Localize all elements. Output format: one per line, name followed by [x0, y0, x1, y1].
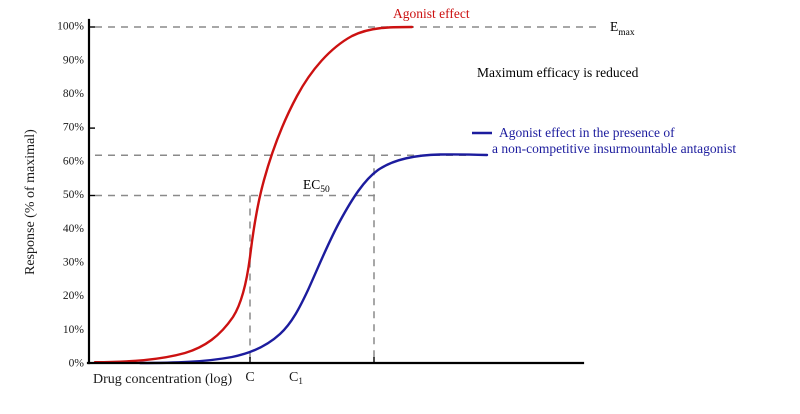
ec50-annotation: EC50 [303, 177, 330, 195]
y-tick-label: 30% [63, 257, 85, 269]
y-axis-title: Response (% of maximal) [23, 129, 38, 275]
max-efficacy-annotation: Maximum efficacy is reduced [477, 65, 639, 80]
antagonist-series-label-line2: a non-competitive insurmountable antagon… [492, 141, 736, 156]
y-tick-label: 0% [69, 358, 85, 370]
y-tick-label: 90% [63, 54, 85, 66]
dose-response-chart: Response (% of maximal) 100% 90% 80% 70%… [0, 0, 800, 414]
y-tick-label: 70% [63, 122, 85, 134]
agonist-series-label: Agonist effect [393, 6, 470, 21]
antagonist-series-label-line1: Agonist effect in the presence of [499, 125, 675, 140]
x-axis-title: Drug concentration (log) [93, 372, 233, 387]
emax-annotation: Emax [610, 19, 635, 38]
x-tick-label-c1-base: C [289, 370, 298, 385]
y-tick-label: 10% [63, 324, 85, 336]
x-tick-label-c1: C1 [289, 370, 303, 387]
y-tick-label: 50% [63, 189, 85, 201]
emax-annotation-subscript: max [618, 28, 635, 38]
chart-page: Response (% of maximal) 100% 90% 80% 70%… [0, 0, 800, 414]
x-tick-label-c: C [245, 370, 254, 385]
ec50-annotation-base: EC [303, 177, 320, 192]
y-tick-label: 60% [63, 155, 85, 167]
x-tick-label-c1-subscript: 1 [298, 377, 303, 387]
ec50-annotation-subscript: 50 [320, 185, 330, 195]
x-axis-ticks: C C1 [245, 357, 374, 387]
y-tick-label: 20% [63, 290, 85, 302]
emax-annotation-base: E [610, 19, 618, 34]
y-tick-label: 100% [57, 21, 84, 33]
agonist-curve [95, 27, 412, 362]
y-tick-label: 80% [63, 88, 85, 100]
y-tick-label: 40% [63, 223, 85, 235]
